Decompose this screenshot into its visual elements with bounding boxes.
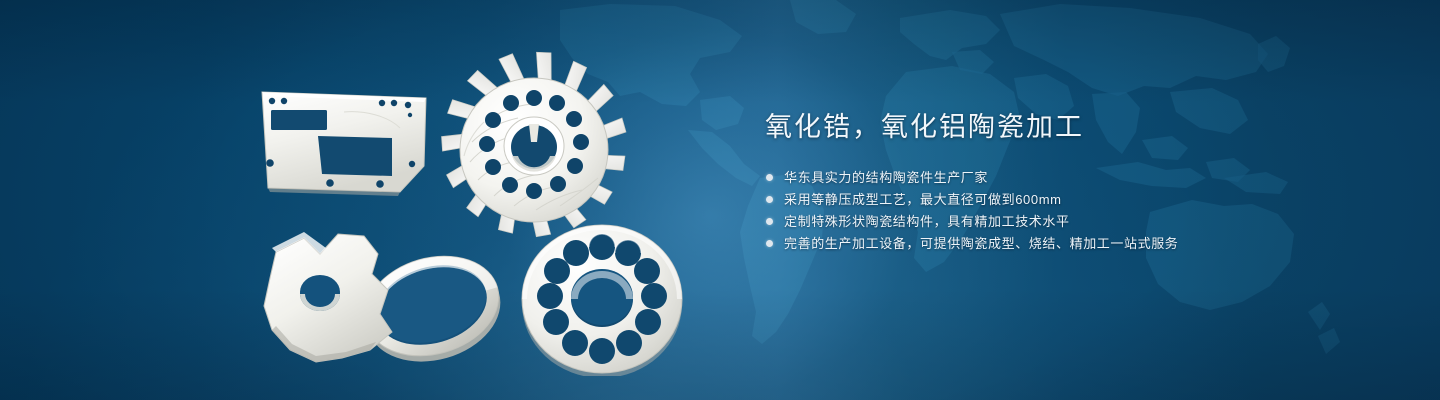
bullet-dot-icon [766, 218, 773, 225]
feature-label: 定制特殊形状陶瓷结构件，具有精加工技术水平 [784, 211, 1070, 233]
page-title: 氧化锆，氧化铝陶瓷加工 [765, 112, 1325, 144]
promo-banner: 氧化锆，氧化铝陶瓷加工 华东具实力的结构陶瓷件生产厂家 采用等静压成型工艺，最大… [0, 0, 1440, 400]
list-item: 华东具实力的结构陶瓷件生产厂家 [765, 167, 1325, 189]
ceramic-impeller-part [438, 48, 638, 246]
list-item: 采用等静压成型工艺，最大直径可做到600mm [765, 189, 1325, 211]
feature-label: 完善的生产加工设备，可提供陶瓷成型、烧结、精加工一站式服务 [784, 233, 1178, 255]
feature-label: 华东具实力的结构陶瓷件生产厂家 [784, 167, 988, 189]
ceramic-cross-and-ring-group [246, 222, 526, 374]
feature-label: 采用等静压成型工艺，最大直径可做到600mm [784, 189, 1062, 211]
bullet-dot-icon [766, 196, 773, 203]
ceramic-cross-part [264, 232, 396, 362]
ceramic-plate-part [248, 78, 448, 204]
banner-copy: 氧化锆，氧化铝陶瓷加工 华东具实力的结构陶瓷件生产厂家 采用等静压成型工艺，最大… [765, 112, 1325, 255]
bullet-dot-icon [766, 240, 773, 247]
bullet-dot-icon [766, 174, 773, 181]
ceramic-perforated-disc-part [518, 222, 688, 376]
feature-list: 华东具实力的结构陶瓷件生产厂家 采用等静压成型工艺，最大直径可做到600mm 定… [765, 167, 1325, 255]
list-item: 定制特殊形状陶瓷结构件，具有精加工技术水平 [765, 211, 1325, 233]
list-item: 完善的生产加工设备，可提供陶瓷成型、烧结、精加工一站式服务 [765, 233, 1325, 255]
